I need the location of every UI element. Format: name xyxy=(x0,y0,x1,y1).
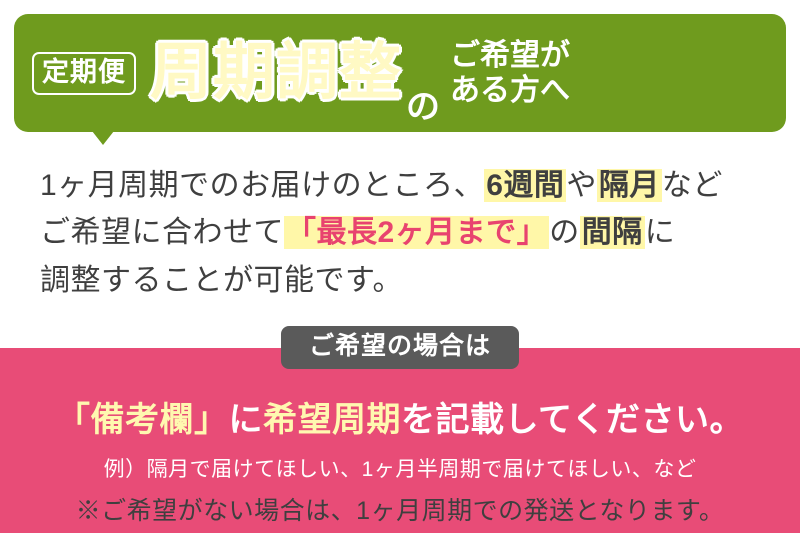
request-instruction-part-a: に xyxy=(229,401,264,439)
banner-particle: の xyxy=(406,79,440,132)
description-line-3: 調整することが可能です。 xyxy=(40,257,766,304)
desired-cycle-quote: 希望周期 xyxy=(263,401,401,439)
description-line-1-part-a: 1ヶ月周期でのお届けのところ、 xyxy=(40,169,484,202)
highlight-every-other-month: 隔月 xyxy=(597,169,662,202)
banner-title: 周期調整 xyxy=(150,42,402,104)
banner-container: 定期便 周期調整 の ご希望が ある方へ xyxy=(0,0,800,132)
request-example-text: 例）隔月で届けてほしい、1ヶ月半周期で届けてほしい、など xyxy=(0,441,800,483)
banner-pointer-icon xyxy=(92,131,114,145)
banner-subtitle-line1: ご希望が xyxy=(450,39,570,72)
highlight-max-two-months: 「最長2ヶ月まで」 xyxy=(284,216,549,249)
description-line-2-part-c: に xyxy=(645,216,676,249)
description-line-2-part-a: ご希望に合わせて xyxy=(40,216,284,249)
promo-page: 定期便 周期調整 の ご希望が ある方へ 1ヶ月周期でのお届けのところ、6週間や… xyxy=(0,0,800,533)
subscription-badge: 定期便 xyxy=(32,52,136,95)
banner-subtitle: ご希望が ある方へ xyxy=(450,38,570,109)
highlight-six-weeks: 6週間 xyxy=(484,169,566,202)
description-line-1-part-b: や xyxy=(566,169,597,202)
description-text: 1ヶ月周期でのお届けのところ、6週間や隔月など ご希望に合わせて「最長2ヶ月まで… xyxy=(0,132,800,304)
description-line-1: 1ヶ月周期でのお届けのところ、6週間や隔月など xyxy=(40,162,766,209)
description-line-2-part-b: の xyxy=(549,216,580,249)
banner-subtitle-line2: ある方へ xyxy=(450,74,570,107)
header-banner: 定期便 周期調整 の ご希望が ある方へ xyxy=(14,14,786,132)
request-instruction-part-c: を記載してください。 xyxy=(401,401,744,439)
request-pill-label: ご希望の場合は xyxy=(281,326,519,369)
highlight-interval: 間隔 xyxy=(580,216,645,249)
description-line-1-part-c: など xyxy=(662,169,723,202)
remarks-field-quote: 「備考欄」 xyxy=(56,401,229,439)
description-line-2: ご希望に合わせて「最長2ヶ月まで」の間隔に xyxy=(40,209,766,256)
default-cycle-note: ※ご希望がない場合は、1ヶ月周期での発送となります。 xyxy=(0,491,800,527)
